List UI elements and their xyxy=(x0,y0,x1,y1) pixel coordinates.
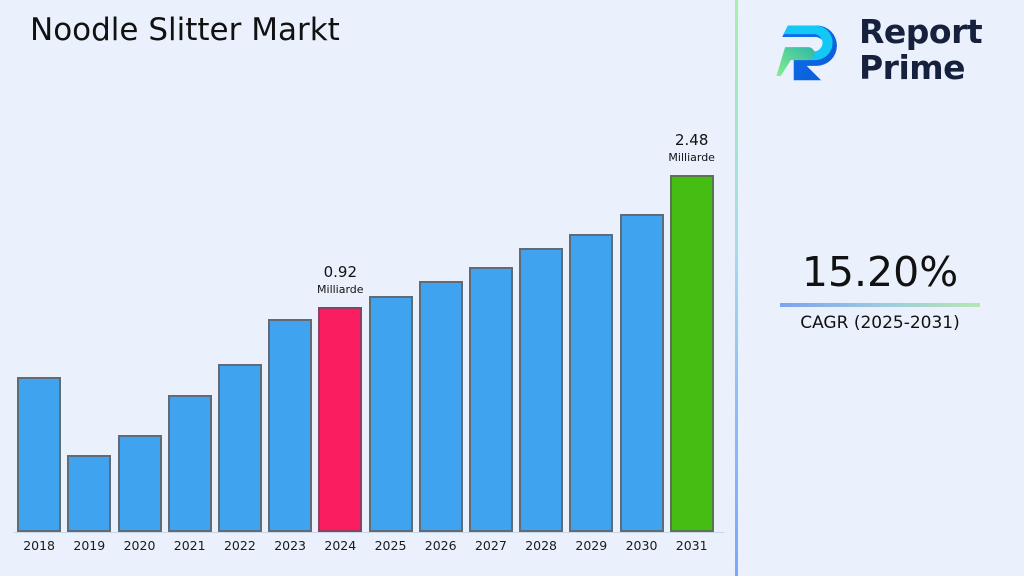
bar-2020[interactable] xyxy=(118,435,162,532)
bar-2027[interactable] xyxy=(469,267,513,532)
bar-rect-2031[interactable] xyxy=(670,175,714,532)
bar-rect-2025[interactable] xyxy=(369,296,413,532)
bar-rect-2020[interactable] xyxy=(118,435,162,532)
bar-rect-2027[interactable] xyxy=(469,267,513,532)
report-prime-logo-mark xyxy=(775,14,847,86)
bar-chart: 0.92Milliarde2.48Milliarde 2018201920202… xyxy=(0,0,735,576)
bar-rect-2028[interactable] xyxy=(519,248,563,532)
bar-rect-2026[interactable] xyxy=(419,281,463,532)
cagr-block: 15.20% CAGR (2025-2031) xyxy=(736,250,1024,333)
bar-2026[interactable] xyxy=(419,281,463,532)
value-label-2024: 0.92Milliarde xyxy=(280,265,400,295)
bar-2025[interactable] xyxy=(369,296,413,532)
logo-line-1: Report xyxy=(859,12,982,51)
value-label-number-2024: 0.92 xyxy=(280,265,400,280)
bar-2030[interactable] xyxy=(620,214,664,532)
bar-2021[interactable] xyxy=(168,395,212,532)
bar-rect-2029[interactable] xyxy=(569,234,613,532)
bar-2029[interactable] xyxy=(569,234,613,532)
bar-rect-2021[interactable] xyxy=(168,395,212,532)
bar-rect-2023[interactable] xyxy=(268,319,312,532)
bar-2023[interactable] xyxy=(268,319,312,532)
chart-page: Noodle Slitter Markt 0.92Milliarde2.48Mi… xyxy=(0,0,1024,576)
bar-rect-2018[interactable] xyxy=(17,377,61,532)
bar-2019[interactable] xyxy=(67,455,111,532)
value-label-unit-2024: Milliarde xyxy=(280,284,400,295)
logo-wordmark: Report Prime xyxy=(859,14,982,85)
bar-2028[interactable] xyxy=(519,248,563,532)
bar-2018[interactable] xyxy=(17,377,61,532)
cagr-label: CAGR (2025-2031) xyxy=(736,313,1024,333)
bar-2022[interactable] xyxy=(218,364,262,532)
bar-rect-2030[interactable] xyxy=(620,214,664,532)
bar-rect-2019[interactable] xyxy=(67,455,111,532)
cagr-divider-rule xyxy=(780,303,980,307)
x-tick-2031: 2031 xyxy=(662,538,722,553)
cagr-value: 15.20% xyxy=(736,250,1024,295)
bar-2024[interactable] xyxy=(318,307,362,532)
bar-rect-2022[interactable] xyxy=(218,364,262,532)
value-label-number-2031: 2.48 xyxy=(632,133,752,148)
bar-rect-2024[interactable] xyxy=(318,307,362,532)
x-axis-line xyxy=(14,532,724,533)
bar-2031[interactable] xyxy=(670,175,714,532)
logo-line-2: Prime xyxy=(859,48,965,87)
value-label-2031: 2.48Milliarde xyxy=(632,133,752,163)
report-prime-logo: Report Prime xyxy=(775,14,982,86)
value-label-unit-2031: Milliarde xyxy=(632,152,752,163)
